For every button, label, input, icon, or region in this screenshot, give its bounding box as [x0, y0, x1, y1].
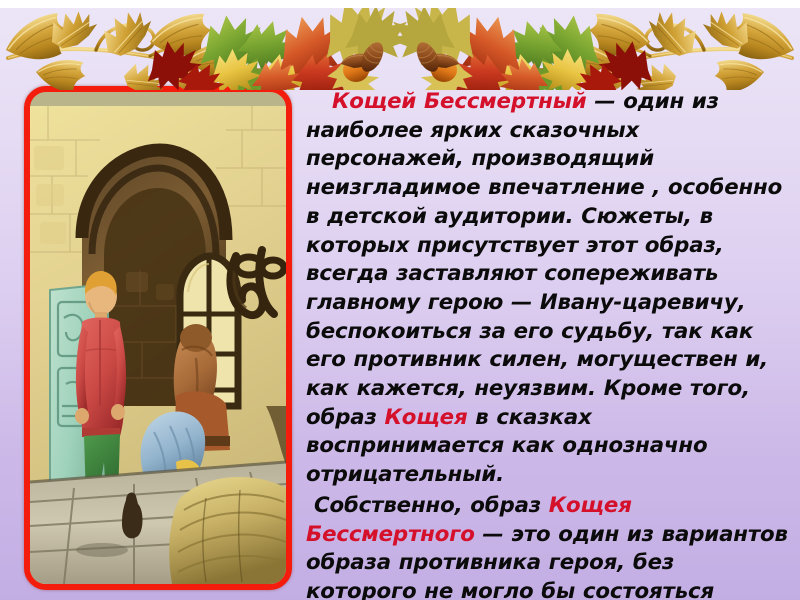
- paragraph-2-start: Собственно, образ: [314, 493, 549, 518]
- illustration-image: [30, 106, 286, 584]
- koschei-inline-red-1: Кощея: [385, 405, 468, 430]
- top-white-strip: [0, 0, 800, 8]
- paragraph-1: Кощей Бессмертный — один из наиболее ярк…: [306, 88, 792, 490]
- body-text-column: Кощей Бессмертный — один из наиболее ярк…: [306, 88, 792, 600]
- autumn-leaves-border-decoration: [0, 6, 800, 90]
- presentation-slide: Кощей Бессмертный — один из наиболее ярк…: [0, 0, 800, 600]
- koschei-title-red: Кощей Бессмертный: [332, 89, 587, 114]
- illustration-frame: [24, 86, 292, 590]
- paragraph-2: Собственно, образ Кощея Бессмертного — э…: [306, 492, 792, 600]
- paragraph-1-body: — один из наиболее ярких сказочных персо…: [306, 89, 782, 430]
- koschei-dungeon-illustration: [30, 106, 286, 584]
